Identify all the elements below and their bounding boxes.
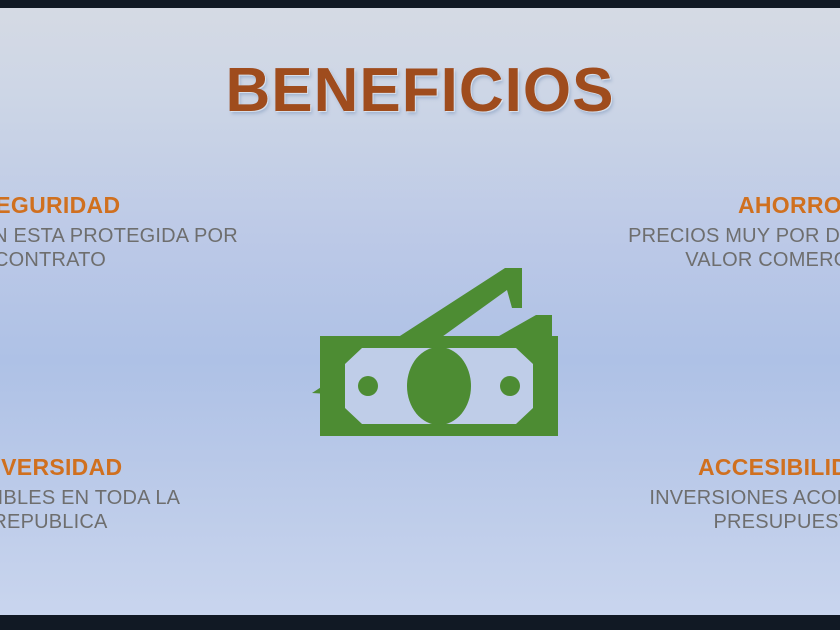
letterbox-top [0,0,840,8]
benefit-body-diversidad: DISPONIBLES EN TODA LA REPUBLICA [0,486,245,536]
benefit-block-diversidad: DIVERSIDAD DISPONIBLES EN TODA LA REPUBL… [0,453,245,535]
letterbox-bottom [0,615,840,630]
benefit-body-line: VALOR COMEROCIAL [595,248,840,273]
benefit-heading-diversidad: DIVERSIDAD [0,453,245,482]
benefit-heading-ahorro: AHORRO [595,191,840,220]
benefit-body-line: INVERSIONES ACORDE A SU [595,486,840,511]
benefit-heading-seguridad: SEGURIDAD [0,191,245,220]
benefit-block-accesibilidad: ACCESIBILIDAD INVERSIONES ACORDE A SU PR… [595,453,840,535]
slide-frame: BENEFICIOS SEGURIDAD SU INVERSION ESTA P… [0,0,840,630]
slide-canvas: BENEFICIOS SEGURIDAD SU INVERSION ESTA P… [0,8,840,615]
benefit-body-line: REPUBLICA [0,510,245,535]
benefit-body-line: DISPONIBLES EN TODA LA [0,486,245,511]
benefit-body-line: PRECIOS MUY POR DEBAJO DEL [595,224,840,249]
money-icon-banknote [320,336,558,436]
benefit-body-ahorro: PRECIOS MUY POR DEBAJO DEL VALOR COMEROC… [595,224,840,274]
benefit-heading-accesibilidad: ACCESIBILIDAD [595,453,840,482]
benefit-body-seguridad: SU INVERSION ESTA PROTEGIDA POR CONTRATO [0,224,245,274]
page-title: BENEFICIOS [0,60,840,122]
benefit-body-line: PRESUPUESTO [595,510,840,535]
benefit-block-seguridad: SEGURIDAD SU INVERSION ESTA PROTEGIDA PO… [0,191,245,273]
benefit-body-line: CONTRATO [0,248,245,273]
benefit-body-line: SU INVERSION ESTA PROTEGIDA POR [0,224,245,249]
benefit-body-accesibilidad: INVERSIONES ACORDE A SU PRESUPUESTO [595,486,840,536]
money-cash-icon [300,256,580,451]
benefit-block-ahorro: AHORRO PRECIOS MUY POR DEBAJO DEL VALOR … [595,191,840,273]
